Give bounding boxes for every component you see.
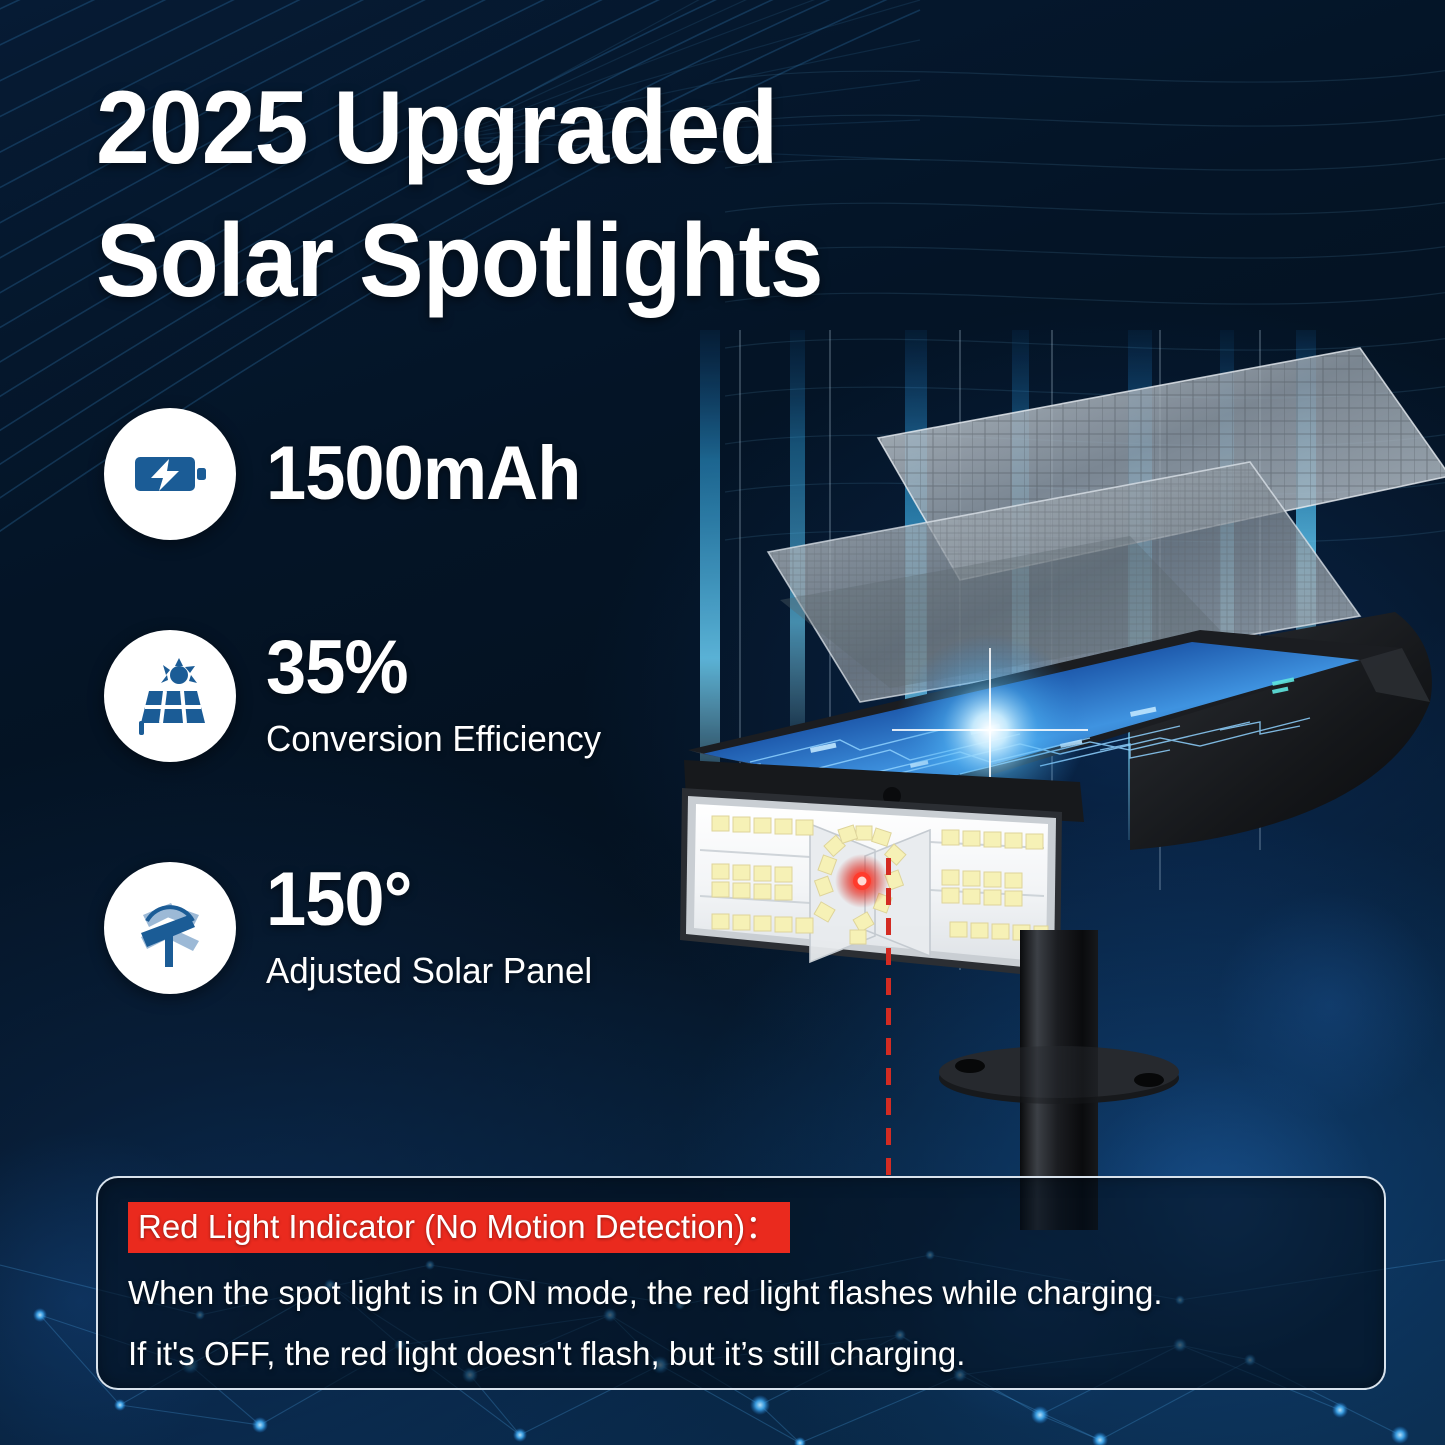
headline-line-2: Solar Spotlights (96, 195, 989, 328)
feature-value: 1500mAh (266, 436, 580, 512)
feature-text: 150° Adjusted Solar Panel (266, 862, 602, 995)
feature-row-efficiency: 35% Conversion Efficiency (104, 630, 612, 763)
red-indicator-dashed-line (886, 858, 891, 1180)
feature-subtitle: Conversion Efficiency (266, 716, 601, 763)
callout-line-2: If it's OFF, the red light doesn't flash… (128, 1333, 1356, 1374)
feature-icon-badge (104, 630, 236, 762)
feature-icon-badge (104, 408, 236, 540)
feature-text: 1500mAh (266, 436, 597, 512)
solar-panel-sun-icon (127, 653, 213, 739)
feature-row-battery: 1500mAh (104, 408, 597, 540)
product-feature-image: 2025 Upgraded Solar Spotlights (0, 0, 1445, 1445)
adjustable-solar-panel-icon (127, 885, 213, 971)
headline-line-1: 2025 Upgraded (96, 62, 989, 195)
feature-subtitle: Adjusted Solar Panel (266, 948, 592, 995)
feature-row-angle: 150° Adjusted Solar Panel (104, 862, 602, 995)
feature-value: 35% (266, 630, 594, 706)
callout-line-1: When the spot light is in ON mode, the r… (128, 1272, 1356, 1313)
red-light-indicator-callout: Red Light Indicator (No Motion Detection… (96, 1176, 1386, 1390)
feature-value: 150° (266, 862, 585, 938)
product-illustration (660, 330, 1445, 1230)
red-light-indicator-dot (835, 854, 889, 908)
battery-charging-icon (127, 431, 213, 517)
feature-icon-badge (104, 862, 236, 994)
page-title: 2025 Upgraded Solar Spotlights (96, 62, 989, 328)
feature-text: 35% Conversion Efficiency (266, 630, 612, 763)
callout-heading: Red Light Indicator (No Motion Detection… (128, 1202, 790, 1253)
